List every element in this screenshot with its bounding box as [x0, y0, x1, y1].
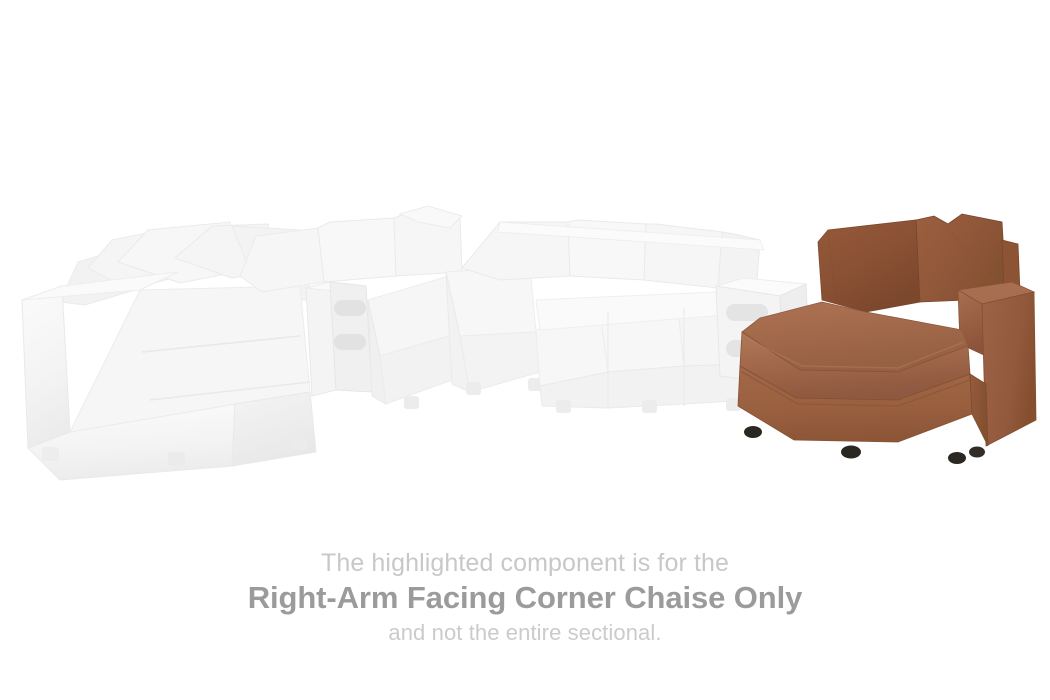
chaise-base-right — [970, 374, 988, 446]
cupholder-slot — [334, 334, 366, 350]
caption-block: The highlighted component is for the Rig… — [0, 548, 1050, 648]
cupholder-slot — [334, 300, 366, 316]
ghost-foot — [292, 437, 307, 450]
chaise-foot — [744, 426, 762, 438]
chaise-foot — [841, 446, 861, 459]
ghost-foot — [42, 447, 59, 461]
ghost-corner-wedge — [446, 266, 543, 395]
ghost-foot — [168, 452, 185, 466]
ghost-foot — [404, 396, 419, 409]
caption-line-main: Right-Arm Facing Corner Chaise Only — [0, 578, 1050, 618]
chaise-back-cushion-left — [818, 220, 920, 312]
chaise-foot — [948, 452, 966, 464]
ghosted-sectional-group — [22, 206, 810, 480]
ghost-foot — [466, 382, 481, 395]
ghost-foot — [556, 400, 571, 413]
caption-line-top: The highlighted component is for the — [0, 548, 1050, 578]
chaise-foot — [969, 447, 985, 458]
ghost-foot — [642, 400, 657, 413]
highlighted-right-arm-facing-corner-chaise — [738, 214, 1036, 464]
chaise-right-arm-outer — [982, 292, 1036, 446]
ghost-console-with-cupholders-left — [306, 282, 372, 396]
sectional-sofa-illustration — [0, 0, 1050, 520]
caption-line-bottom: and not the entire sectional. — [0, 618, 1050, 648]
product-image-page: The highlighted component is for the Rig… — [0, 0, 1050, 700]
